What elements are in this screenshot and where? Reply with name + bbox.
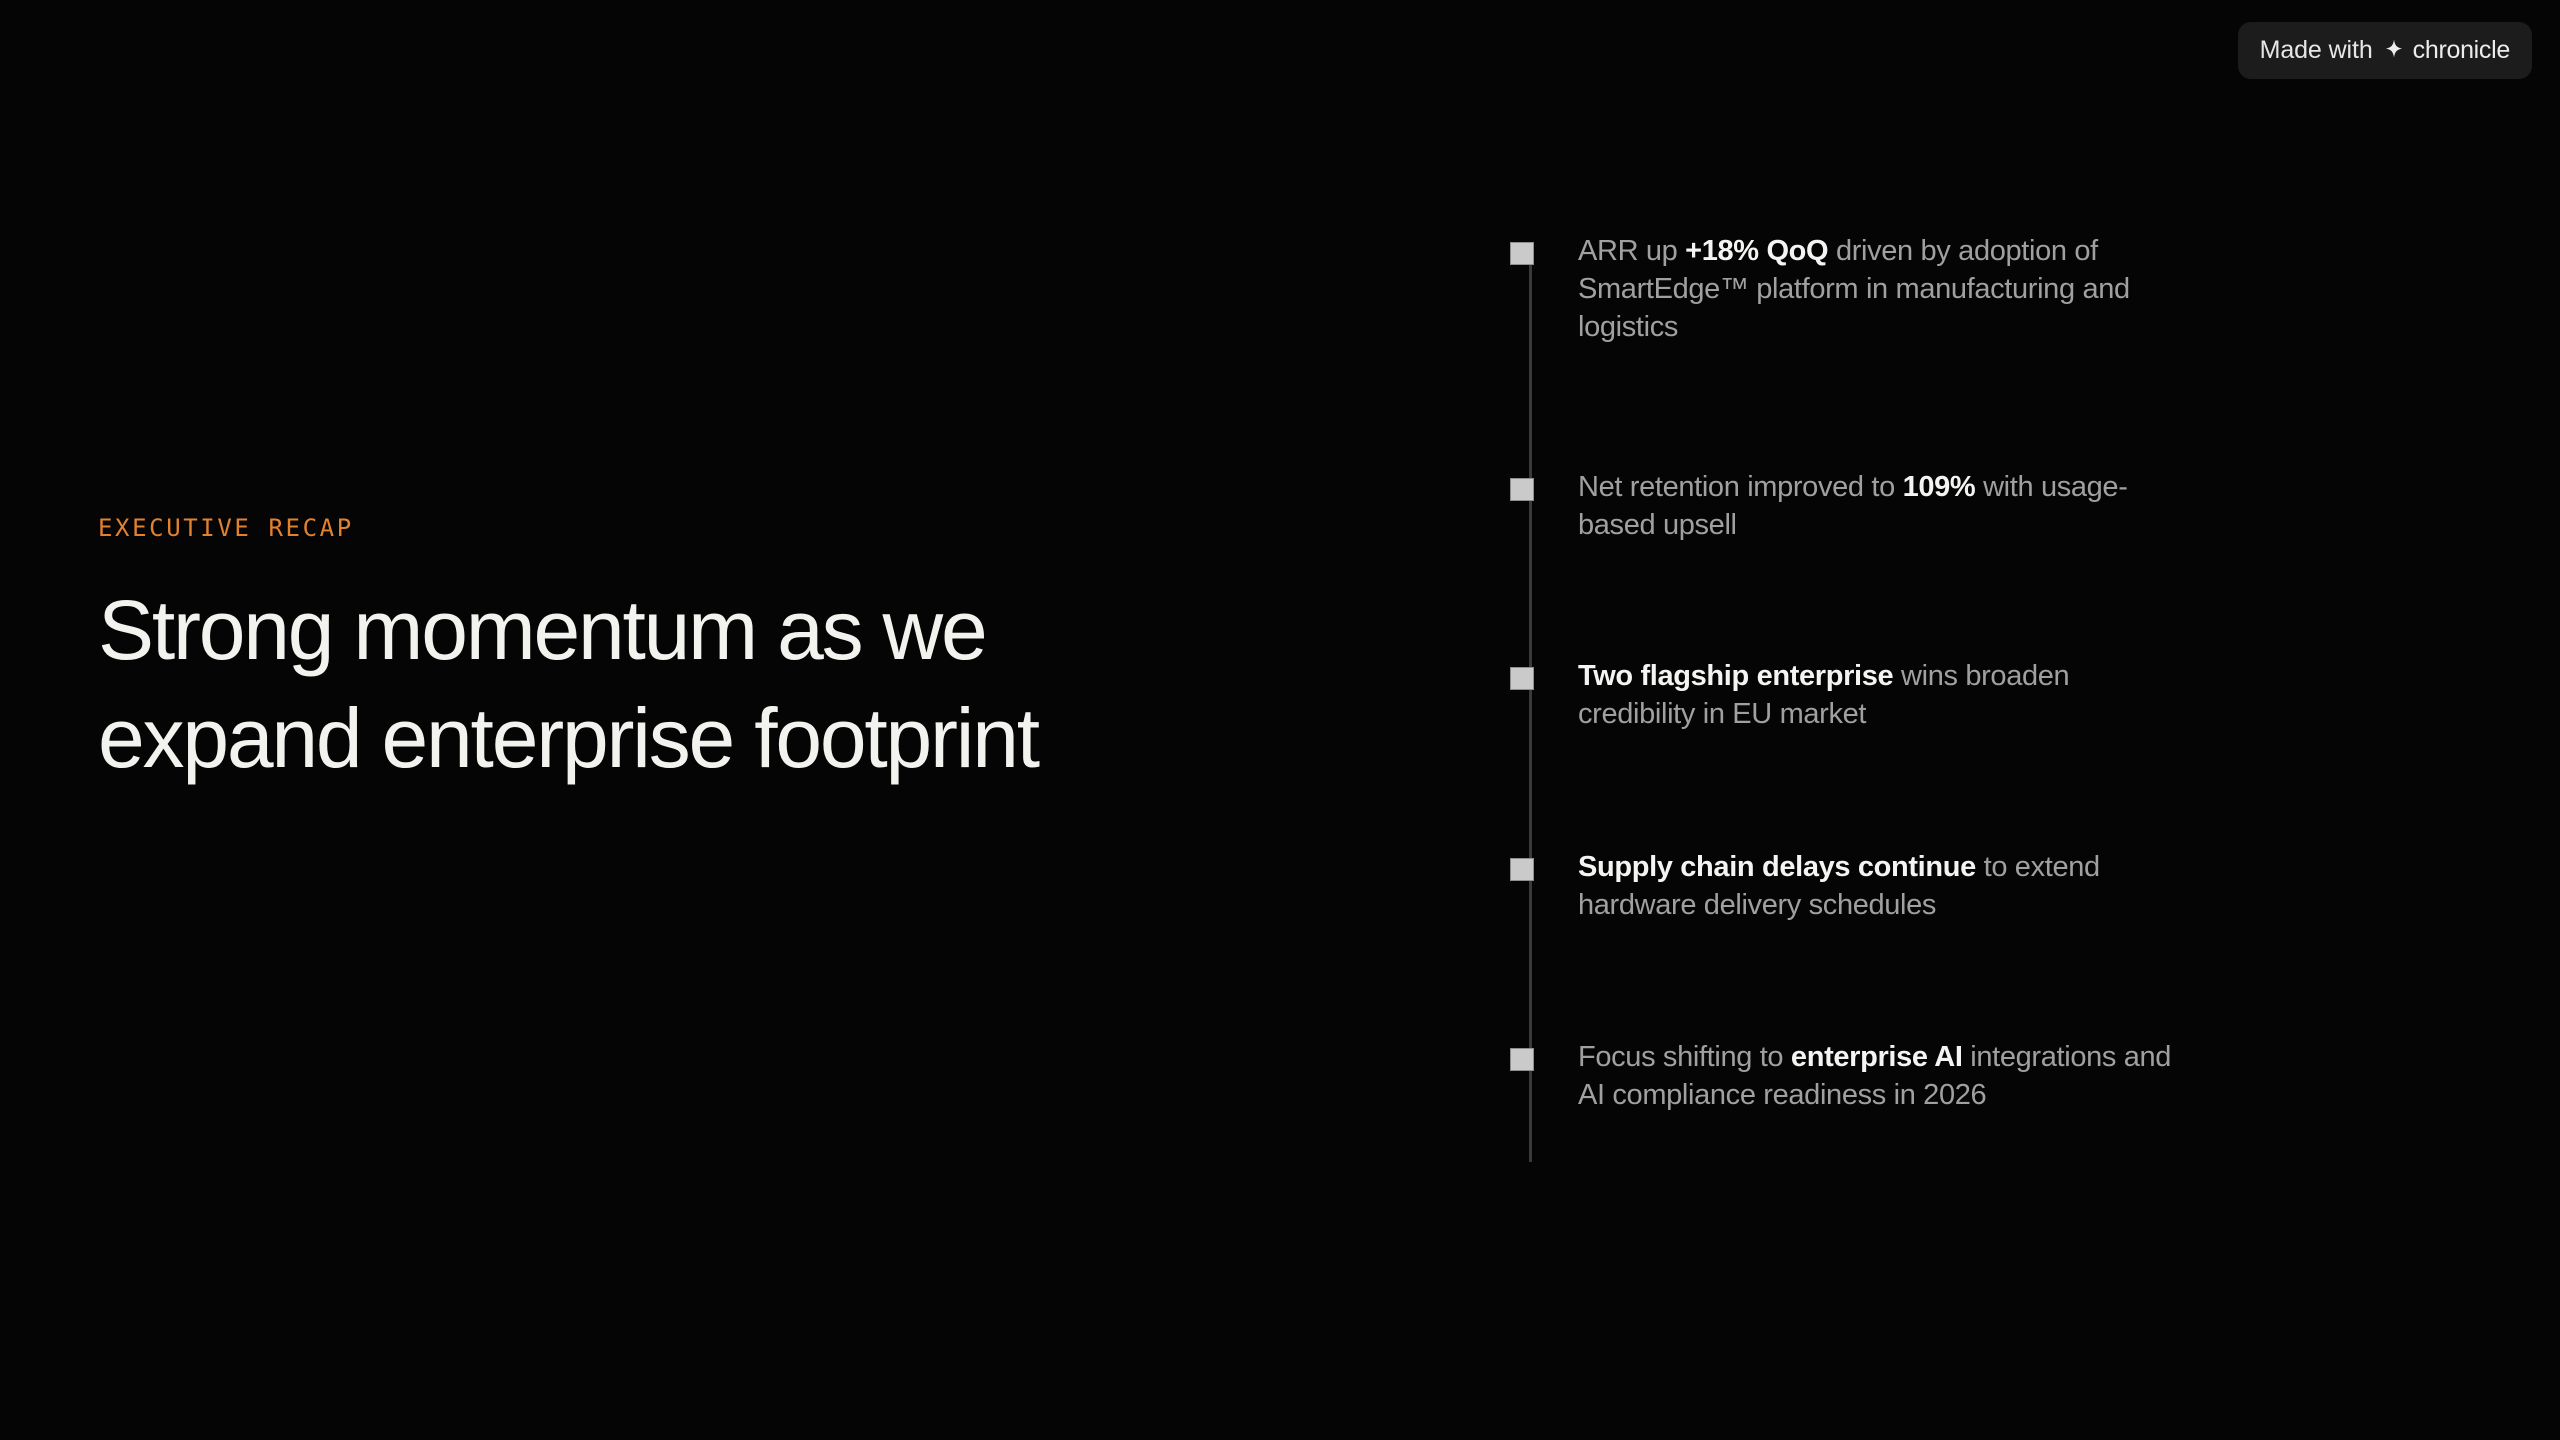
timeline-marker-square-icon — [1510, 242, 1534, 265]
list-item-body: Two flagship enterprise wins broaden cre… — [1578, 657, 2193, 733]
slide-title-block: EXECUTIVE RECAP Strong momentum as we ex… — [98, 516, 1178, 792]
list-item-text: Net retention improved to 109% with usag… — [1578, 468, 2193, 544]
list-item-body: Net retention improved to 109% with usag… — [1578, 468, 2193, 544]
list-item: Net retention improved to 109% with usag… — [1510, 468, 2210, 544]
list-item-text: Supply chain delays continue to extend h… — [1578, 848, 2193, 924]
list-item-body: Supply chain delays continue to extend h… — [1578, 848, 2193, 924]
timeline-marker-square-icon — [1510, 858, 1534, 881]
presentation-slide: Made with chronicle EXECUTIVE RECAP Stro… — [0, 0, 2560, 1440]
list-item-body: ARR up +18% QoQ driven by adoption of Sm… — [1578, 232, 2193, 346]
list-item: Focus shifting to enterprise AI integrat… — [1510, 1038, 2210, 1114]
badge-brand-label: chronicle — [2413, 38, 2510, 63]
list-item-text: Two flagship enterprise wins broaden cre… — [1578, 657, 2193, 733]
list-item: ARR up +18% QoQ driven by adoption of Sm… — [1510, 232, 2210, 346]
page-title: Strong momentum as we expand enterprise … — [98, 576, 1138, 792]
list-item-body: Focus shifting to enterprise AI integrat… — [1578, 1038, 2193, 1114]
badge-prefix-label: Made with — [2260, 38, 2373, 63]
sparkle-icon — [2382, 38, 2406, 62]
list-item-text: Focus shifting to enterprise AI integrat… — [1578, 1038, 2193, 1114]
eyebrow-label: EXECUTIVE RECAP — [98, 516, 1178, 540]
list-item: Two flagship enterprise wins broaden cre… — [1510, 657, 2210, 733]
timeline-marker-square-icon — [1510, 1048, 1534, 1071]
timeline-marker-square-icon — [1510, 478, 1534, 501]
made-with-chronicle-badge[interactable]: Made with chronicle — [2238, 22, 2532, 79]
list-item-text: ARR up +18% QoQ driven by adoption of Sm… — [1578, 232, 2193, 346]
list-item: Supply chain delays continue to extend h… — [1510, 848, 2210, 924]
timeline-marker-square-icon — [1510, 667, 1534, 690]
